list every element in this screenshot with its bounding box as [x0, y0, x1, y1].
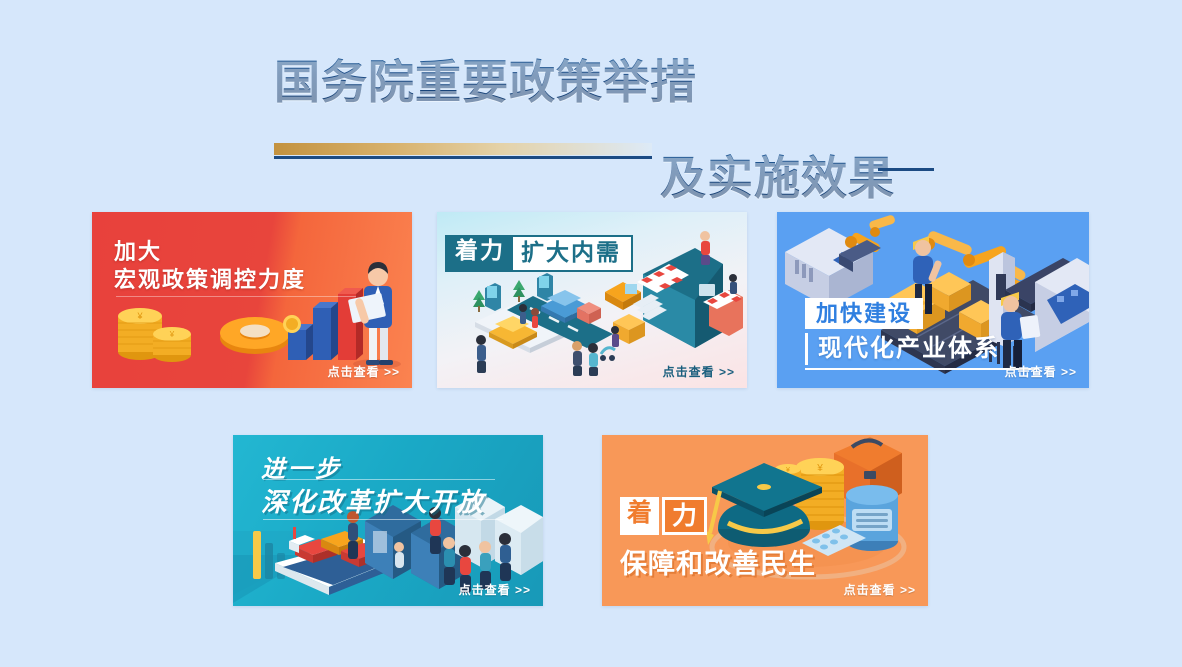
card5-title-banner: 着 力	[620, 497, 707, 535]
card4-divider-1	[263, 479, 495, 480]
svg-text:¥: ¥	[169, 330, 175, 339]
title-line-1: 国务院重要政策举措	[274, 46, 697, 112]
policy-card-modern-industry[interactable]: 加快建设 现代化产业体系 点击查看 >>	[777, 212, 1089, 388]
card4-cta[interactable]: 点击查看 >>	[459, 581, 531, 598]
card1-title-line-2: 宏观政策调控力度	[114, 262, 306, 294]
card2-title-part-1: 着力	[445, 235, 513, 272]
card2-title-banner: 着力 扩大内需	[445, 235, 633, 272]
policy-card-macro-policy[interactable]: ¥ ¥	[92, 212, 412, 388]
title-accent-bar	[274, 143, 652, 155]
policy-card-reform-opening[interactable]: 进一步 深化改革扩大开放 点击查看 >>	[233, 435, 543, 606]
card2-title-part-2: 扩大内需	[513, 235, 633, 272]
title-rule	[274, 156, 652, 159]
svg-text:¥: ¥	[816, 463, 823, 474]
policy-card-expand-demand[interactable]: 着力 扩大内需 点击查看 >>	[437, 212, 747, 388]
card3-title-underline	[805, 368, 1037, 370]
card1-cta[interactable]: 点击查看 >>	[328, 363, 400, 380]
card5-cta[interactable]: 点击查看 >>	[844, 581, 916, 598]
card5-title-line-2: 保障和改善民生	[620, 542, 816, 581]
card5-title-part-1: 着	[620, 497, 659, 535]
card3-title-line-1: 加快建设	[805, 298, 923, 329]
card3-cta[interactable]: 点击查看 >>	[1005, 363, 1077, 380]
card4-divider-2	[263, 519, 503, 520]
policy-card-livelihood[interactable]: ¥ ¥	[602, 435, 928, 606]
page-title: 国务院重要政策举措 及实施效果	[0, 46, 1182, 156]
title-trailing-dash	[878, 168, 934, 171]
card4-title-line-2: 深化改革扩大开放	[261, 482, 485, 519]
page-root: 国务院重要政策举措 及实施效果 ¥	[0, 0, 1182, 667]
card3-title-line-2: 现代化产业体系	[805, 333, 1010, 365]
card1-divider	[116, 296, 356, 297]
title-line-2: 及实施效果	[660, 142, 895, 208]
svg-text:¥: ¥	[136, 311, 143, 321]
card2-cta[interactable]: 点击查看 >>	[663, 363, 735, 380]
card5-title-part-2: 力	[662, 497, 707, 535]
